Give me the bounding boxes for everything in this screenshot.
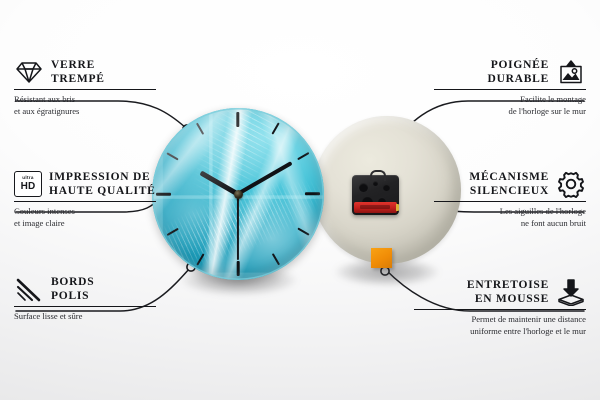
callout-entretoise-en-mousse: ENTRETOISE EN MOUSSE Permet de maintenir… <box>414 278 586 338</box>
infographic-canvas: VERRE TREMPÉ Résistant aux bris et aux é… <box>0 0 600 400</box>
aa-battery <box>354 202 397 213</box>
gear-icon <box>556 170 586 198</box>
clock-hand-cap <box>234 190 243 199</box>
callout-rule <box>414 309 586 310</box>
diamond-icon <box>14 59 44 85</box>
callout-title: ENTRETOISE EN MOUSSE <box>467 278 549 306</box>
foam-spacer-arrow-icon <box>556 278 586 306</box>
callout-verre-trempe: VERRE TREMPÉ Résistant aux bris et aux é… <box>14 58 156 118</box>
callout-impression-haute-qualite: ultra HD IMPRESSION DE HAUTE QUALITÉ Cou… <box>14 170 156 230</box>
callout-subtitle: Permet de maintenir une distance uniform… <box>414 314 586 337</box>
callout-subtitle: Facilite le montage de l'horloge sur le … <box>434 94 586 117</box>
clock-tick <box>305 194 320 197</box>
callout-mecanisme-silencieux: MÉCANISME SILENCIEUX Les aiguilles de l'… <box>434 170 586 230</box>
callout-subtitle: Couleurs intenses et image claire <box>14 206 156 229</box>
picture-hanger-icon <box>556 59 586 86</box>
movement-hanger-tab <box>370 170 386 181</box>
foam-spacer-pad <box>371 248 392 268</box>
callout-poignee-durable: POIGNÉE DURABLE Facilite le montage de l… <box>434 58 586 118</box>
clock-tick <box>235 261 238 276</box>
callout-title: POIGNÉE DURABLE <box>488 58 549 86</box>
callout-rule <box>434 89 586 90</box>
callout-title: MÉCANISME SILENCIEUX <box>469 170 549 198</box>
callout-bords-polis: BORDS POLIS Surface lisse et sûre <box>14 275 156 323</box>
callout-rule <box>14 89 156 90</box>
callout-title: VERRE TREMPÉ <box>51 58 105 86</box>
callout-title: BORDS POLIS <box>51 275 94 303</box>
ultra-hd-badge-icon: ultra HD <box>14 171 42 197</box>
clock-tick <box>156 191 171 194</box>
glass-wall-clock-front <box>152 108 324 280</box>
diagonal-lines-icon <box>14 276 44 302</box>
callout-subtitle: Résistant aux bris et aux égratignures <box>14 94 156 117</box>
callout-rule <box>14 306 156 307</box>
callout-title: IMPRESSION DE HAUTE QUALITÉ <box>49 170 156 198</box>
callout-subtitle: Surface lisse et sûre <box>14 311 156 323</box>
callout-rule <box>434 201 586 202</box>
callout-subtitle: Les aiguilles de l'horloge ne font aucun… <box>434 206 586 229</box>
clock-tick <box>238 112 241 127</box>
callout-rule <box>14 201 156 202</box>
